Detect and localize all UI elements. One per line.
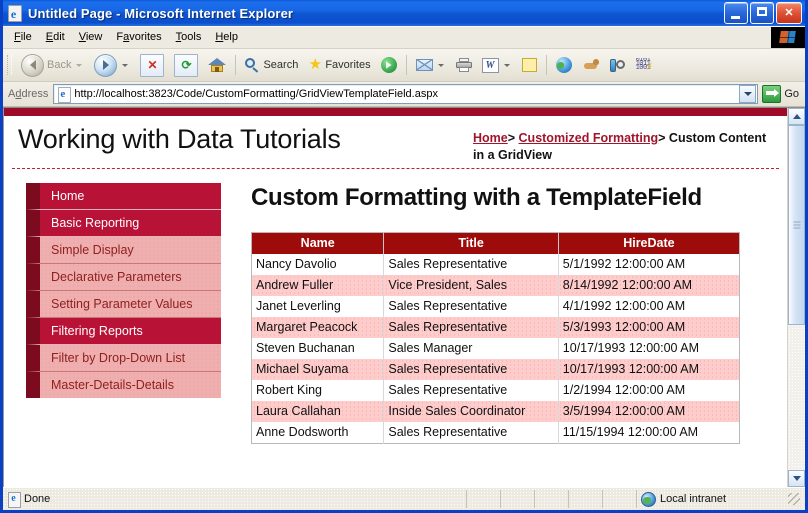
scroll-down-button[interactable] [788, 470, 805, 487]
sidebar-item-basic-reporting[interactable]: Basic Reporting [26, 210, 221, 237]
cell-hiredate: 3/5/1994 12:00:00 AM [558, 401, 739, 422]
back-history-chevron-down-icon[interactable] [76, 64, 82, 67]
sidebar-item-filter-by-drop-down-list[interactable]: Filter by Drop-Down List [26, 345, 221, 372]
minimize-button[interactable] [724, 2, 748, 24]
cell-hiredate: 11/15/1994 12:00:00 AM [558, 422, 739, 444]
main-content: Custom Formatting with a TemplateField N… [251, 183, 787, 444]
table-row: Robert King Sales Representative 1/2/199… [252, 380, 740, 401]
status-pane-2 [501, 490, 535, 508]
menu-favorites[interactable]: Favorites [109, 29, 168, 45]
scroll-up-button[interactable] [788, 108, 805, 125]
cell-name: Nancy Davolio [252, 254, 384, 275]
cell-title: Inside Sales Coordinator [384, 401, 558, 422]
search-button[interactable]: Search [240, 50, 303, 80]
cell-title: Sales Representative [384, 296, 558, 317]
page-top-accent-bar [4, 108, 787, 116]
page-favicon-icon: e [56, 87, 71, 102]
mail-icon [416, 59, 433, 71]
cell-hiredate: 10/17/1993 12:00:00 AM [558, 338, 739, 359]
breadcrumb-link-home[interactable]: Home [473, 131, 508, 145]
sidebar-item-master-details-details[interactable]: Master-Details-Details [26, 372, 221, 398]
table-row: Nancy Davolio Sales Representative 5/1/1… [252, 254, 740, 275]
go-arrow-icon [762, 85, 781, 103]
page-title: Custom Formatting with a TemplateField [251, 183, 773, 212]
cell-name: Michael Suyama [252, 359, 384, 380]
go-button[interactable]: Go [758, 83, 803, 105]
go-label: Go [784, 88, 799, 100]
menu-view[interactable]: View [72, 29, 110, 45]
table-row: Janet Leverling Sales Representative 4/1… [252, 296, 740, 317]
address-url-text: http://localhost:3823/Code/CustomFormatt… [74, 88, 739, 100]
mail-chevron-down-icon[interactable] [438, 64, 444, 67]
close-button[interactable]: ✕ [776, 2, 802, 24]
cell-name: Margaret Peacock [252, 317, 384, 338]
cell-hiredate: 1/2/1994 12:00:00 AM [558, 380, 739, 401]
cell-title: Sales Representative [384, 380, 558, 401]
media-button[interactable] [376, 50, 402, 80]
sidebar-item-home[interactable]: Home [26, 183, 221, 210]
research-button[interactable] [604, 50, 631, 80]
sidebar-item-setting-parameter-values[interactable]: Setting Parameter Values [26, 291, 221, 318]
search-icon [245, 58, 260, 73]
favorites-icon: ★ [308, 58, 322, 72]
site-title: Working with Data Tutorials [18, 122, 341, 156]
toolbar-separator-2 [406, 55, 407, 75]
web-page: Working with Data Tutorials Home> Custom… [3, 108, 787, 487]
status-message-pane: e Done [3, 490, 467, 508]
cell-title: Sales Representative [384, 359, 558, 380]
edit-chevron-down-icon[interactable] [504, 64, 510, 67]
back-button[interactable]: Back [16, 50, 89, 80]
msn-toolbar-icon: 010110111001⚡ [636, 58, 653, 73]
cell-hiredate: 4/1/1992 12:00:00 AM [558, 296, 739, 317]
cell-name: Anne Dodsworth [252, 422, 384, 444]
sidebar-item-declarative-parameters[interactable]: Declarative Parameters [26, 264, 221, 291]
menu-edit[interactable]: Edit [39, 29, 72, 45]
page-header: Working with Data Tutorials Home> Custom… [4, 116, 787, 164]
page-vertical-scrollbar[interactable] [787, 108, 805, 487]
cell-title: Sales Representative [384, 422, 558, 444]
ie-document-icon: e [7, 5, 23, 21]
table-row: Andrew Fuller Vice President, Sales 8/14… [252, 275, 740, 296]
status-pane-4 [569, 490, 603, 508]
edit-word-button[interactable]: W [477, 50, 517, 80]
cell-name: Janet Leverling [252, 296, 384, 317]
window-controls: ✕ [724, 2, 803, 24]
column-header-title[interactable]: Title [384, 233, 558, 255]
table-row: Michael Suyama Sales Representative 10/1… [252, 359, 740, 380]
table-body: Nancy Davolio Sales Representative 5/1/1… [252, 254, 740, 444]
browser-toolbar: Back ✕ ⟳ Search ★ Favorites [3, 49, 805, 82]
print-icon [456, 58, 472, 72]
refresh-button[interactable]: ⟳ [169, 50, 203, 80]
column-header-name[interactable]: Name [252, 233, 384, 255]
print-button[interactable] [451, 50, 477, 80]
scrollbar-thumb[interactable] [788, 125, 805, 325]
security-zone-pane[interactable]: Local intranet [637, 490, 805, 508]
cell-hiredate: 5/1/1992 12:00:00 AM [558, 254, 739, 275]
cell-hiredate: 8/14/1992 12:00:00 AM [558, 275, 739, 296]
status-pane-1 [467, 490, 501, 508]
status-pane-5 [603, 490, 637, 508]
table-header-row: Name Title HireDate [252, 233, 740, 255]
toolbar-separator [235, 55, 236, 75]
globe-icon [641, 492, 656, 507]
cell-hiredate: 10/17/1993 12:00:00 AM [558, 359, 739, 380]
msn-toolbar-button[interactable]: 010110111001⚡ [631, 50, 658, 80]
messenger-button[interactable] [551, 50, 577, 80]
back-icon [21, 54, 44, 77]
toolbar-separator-3 [546, 55, 547, 75]
sidebar-item-simple-display[interactable]: Simple Display [26, 237, 221, 264]
stop-button[interactable]: ✕ [135, 50, 169, 80]
sidebar-nav: Home Basic Reporting Simple Display Decl… [26, 183, 221, 444]
table-row: Laura Callahan Inside Sales Coordinator … [252, 401, 740, 422]
notes-button[interactable] [517, 50, 542, 80]
cell-name: Steven Buchanan [252, 338, 384, 359]
messenger-globe-icon [556, 57, 572, 73]
ie-window: e Untitled Page - Microsoft Internet Exp… [0, 0, 808, 513]
cell-hiredate: 5/3/1993 12:00:00 AM [558, 317, 739, 338]
dog-search-button[interactable] [577, 50, 604, 80]
search-label: Search [263, 59, 298, 71]
status-text: Done [24, 493, 50, 505]
dog-icon [582, 58, 599, 72]
status-bar: e Done Local intranet [3, 487, 805, 510]
scrollbar-track[interactable] [788, 125, 805, 470]
stop-icon: ✕ [140, 54, 164, 77]
favorites-label: Favorites [325, 59, 370, 71]
maximize-button[interactable] [750, 2, 774, 24]
table-row: Margaret Peacock Sales Representative 5/… [252, 317, 740, 338]
forward-icon [94, 54, 117, 77]
resize-grip[interactable] [788, 493, 800, 505]
table-row: Steven Buchanan Sales Manager 10/17/1993… [252, 338, 740, 359]
cell-title: Sales Manager [384, 338, 558, 359]
breadcrumb-separator-2: > [658, 131, 665, 145]
refresh-icon: ⟳ [174, 54, 198, 77]
window-title: Untitled Page - Microsoft Internet Explo… [28, 6, 293, 21]
menu-help[interactable]: Help [208, 29, 245, 45]
forward-button[interactable] [89, 50, 135, 80]
breadcrumb-link-customized-formatting[interactable]: Customized Formatting [519, 131, 659, 145]
table-row: Anne Dodsworth Sales Representative 11/1… [252, 422, 740, 444]
breadcrumb: Home> Customized Formatting> Custom Cont… [473, 122, 773, 164]
forward-history-chevron-down-icon[interactable] [122, 64, 128, 67]
home-button[interactable] [203, 50, 231, 80]
sidebar-item-filtering-reports[interactable]: Filtering Reports [26, 318, 221, 345]
employees-gridview: Name Title HireDate Nancy Davolio Sales … [251, 232, 740, 444]
cell-name: Andrew Fuller [252, 275, 384, 296]
page-viewport: Working with Data Tutorials Home> Custom… [3, 107, 805, 487]
security-zone-label: Local intranet [660, 493, 726, 505]
address-input[interactable]: e http://localhost:3823/Code/CustomForma… [53, 84, 758, 104]
menu-bar: File Edit View Favorites Tools Help [3, 26, 805, 49]
address-chevron-down-icon[interactable] [739, 85, 756, 103]
back-label: Back [47, 59, 71, 71]
mail-button[interactable] [411, 50, 451, 80]
address-label: Address [6, 88, 53, 100]
edit-word-icon: W [482, 58, 499, 73]
favorites-button[interactable]: ★ Favorites [303, 50, 375, 80]
menu-file[interactable]: File [7, 29, 39, 45]
menu-tools[interactable]: Tools [169, 29, 209, 45]
breadcrumb-separator-1: > [508, 131, 515, 145]
cell-name: Robert King [252, 380, 384, 401]
cell-title: Sales Representative [384, 317, 558, 338]
home-icon [208, 57, 226, 73]
status-pane-3 [535, 490, 569, 508]
toolbar-grip[interactable] [7, 55, 12, 75]
cell-name: Laura Callahan [252, 401, 384, 422]
media-icon [381, 57, 397, 73]
ie-brand-logo [771, 27, 805, 48]
research-icon [609, 58, 626, 73]
notes-icon [522, 58, 537, 72]
cell-title: Vice President, Sales [384, 275, 558, 296]
page-body: Home Basic Reporting Simple Display Decl… [4, 169, 787, 444]
column-header-hiredate[interactable]: HireDate [558, 233, 739, 255]
title-bar: e Untitled Page - Microsoft Internet Exp… [3, 0, 805, 26]
cell-title: Sales Representative [384, 254, 558, 275]
page-document-icon: e [7, 492, 21, 507]
address-bar: Address e http://localhost:3823/Code/Cus… [3, 82, 805, 107]
